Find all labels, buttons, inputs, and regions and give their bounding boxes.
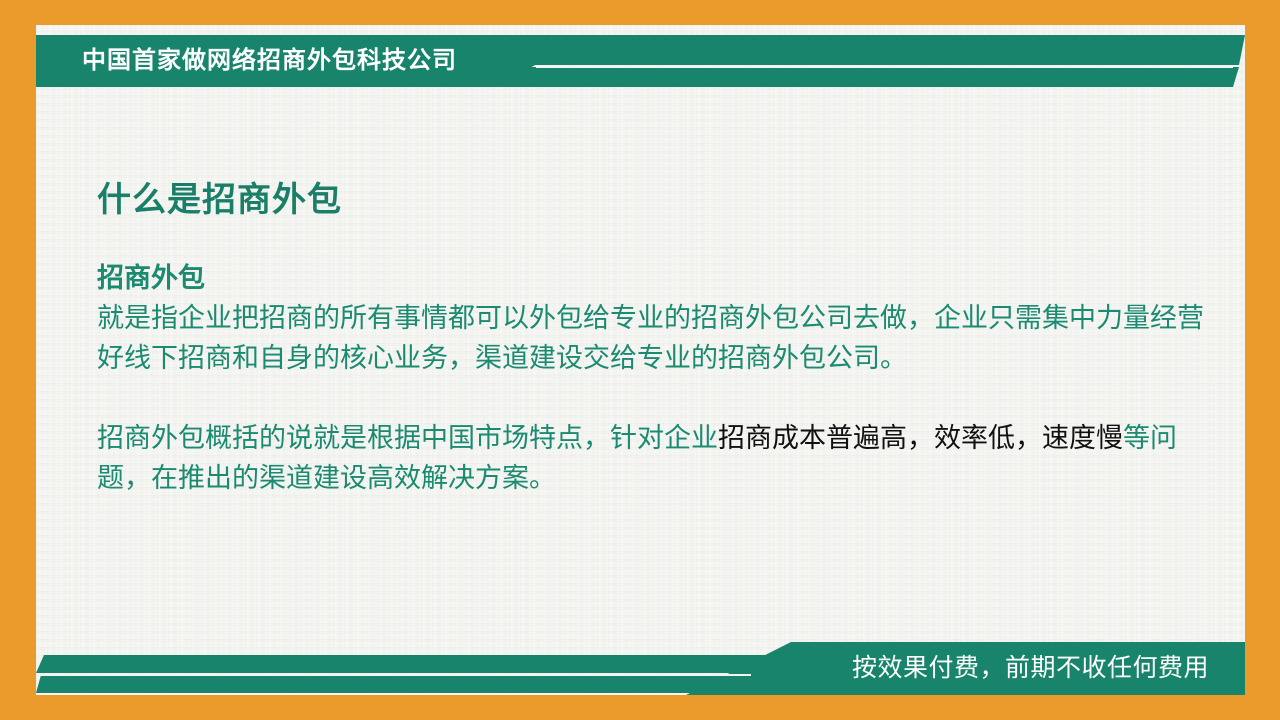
- page-title: 什么是招商外包: [97, 178, 342, 222]
- paragraph-spacer: [97, 378, 1222, 418]
- header-banner: 中国首家做网络招商外包科技公司: [36, 35, 1245, 87]
- header-divider-line: [536, 66, 1233, 68]
- slide: 中国首家做网络招商外包科技公司 什么是招商外包 招商外包 就是指企业把招商的所有…: [0, 0, 1280, 720]
- footer-tagline: 按效果付费，前期不收任何费用: [852, 648, 1209, 688]
- paragraph-2-run-1: 招商外包概括的说就是根据中国市场特点，针对企业: [97, 423, 718, 453]
- paragraph-1: 招商外包 就是指企业把招商的所有事情都可以外包给专业的招商外包公司去做，企业只需…: [97, 258, 1222, 378]
- footer-divider-line: [36, 674, 751, 676]
- paragraph-2: 招商外包概括的说就是根据中国市场特点，针对企业招商成本普遍高，效率低，速度慢等问…: [97, 418, 1222, 498]
- body-copy: 招商外包 就是指企业把招商的所有事情都可以外包给专业的招商外包公司去做，企业只需…: [97, 258, 1222, 498]
- paragraph-1-run-1: 就是指企业把招商的所有事情都可以外包给专业的招商外包公司去做，企业只需集中力量经…: [97, 303, 1204, 373]
- paragraph-2-run-2-highlight: 招商成本普遍高，效率低，速度慢: [718, 423, 1123, 453]
- paragraph-1-lead: 招商外包: [97, 258, 1222, 298]
- header-title: 中国首家做网络招商外包科技公司: [82, 41, 457, 81]
- footer-banner: 按效果付费，前期不收任何费用: [36, 642, 1245, 695]
